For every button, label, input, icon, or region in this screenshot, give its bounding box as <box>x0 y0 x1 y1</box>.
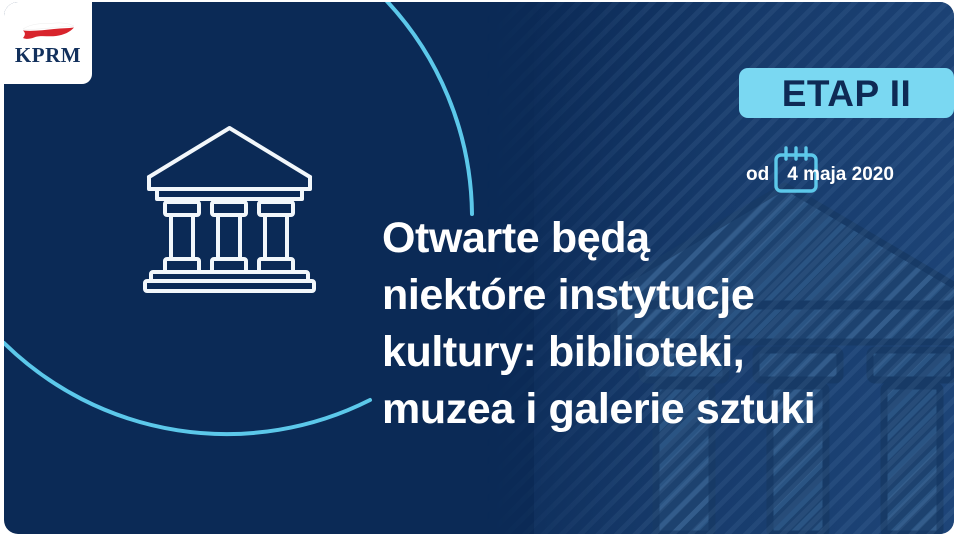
kprm-logo[interactable]: KPRM <box>4 2 92 84</box>
polish-flag-swoosh-icon <box>20 21 76 43</box>
page-title: Otwarte będą niektóre instytucje kultury… <box>382 210 948 438</box>
stage-badge-label: ETAP II <box>782 75 912 112</box>
museum-building-icon <box>137 114 322 299</box>
poster-root: KPRM <box>0 0 960 540</box>
headline-line-2: niektóre instytucje <box>382 267 948 324</box>
date-row: od 4 maja 2020 <box>746 158 894 190</box>
date-prefix: od <box>746 165 769 184</box>
headline-line-4: muzea i galerie sztuki <box>382 381 948 438</box>
date-value-wrap: 4 maja 2020 <box>769 165 894 184</box>
date-value: 4 maja 2020 <box>769 165 894 184</box>
headline-line-3: kultury: biblioteki, <box>382 324 948 381</box>
headline-line-1: Otwarte będą <box>382 210 948 267</box>
poster-card: KPRM <box>4 2 954 534</box>
kprm-logo-text: KPRM <box>15 45 81 66</box>
stage-badge: ETAP II <box>739 68 954 118</box>
